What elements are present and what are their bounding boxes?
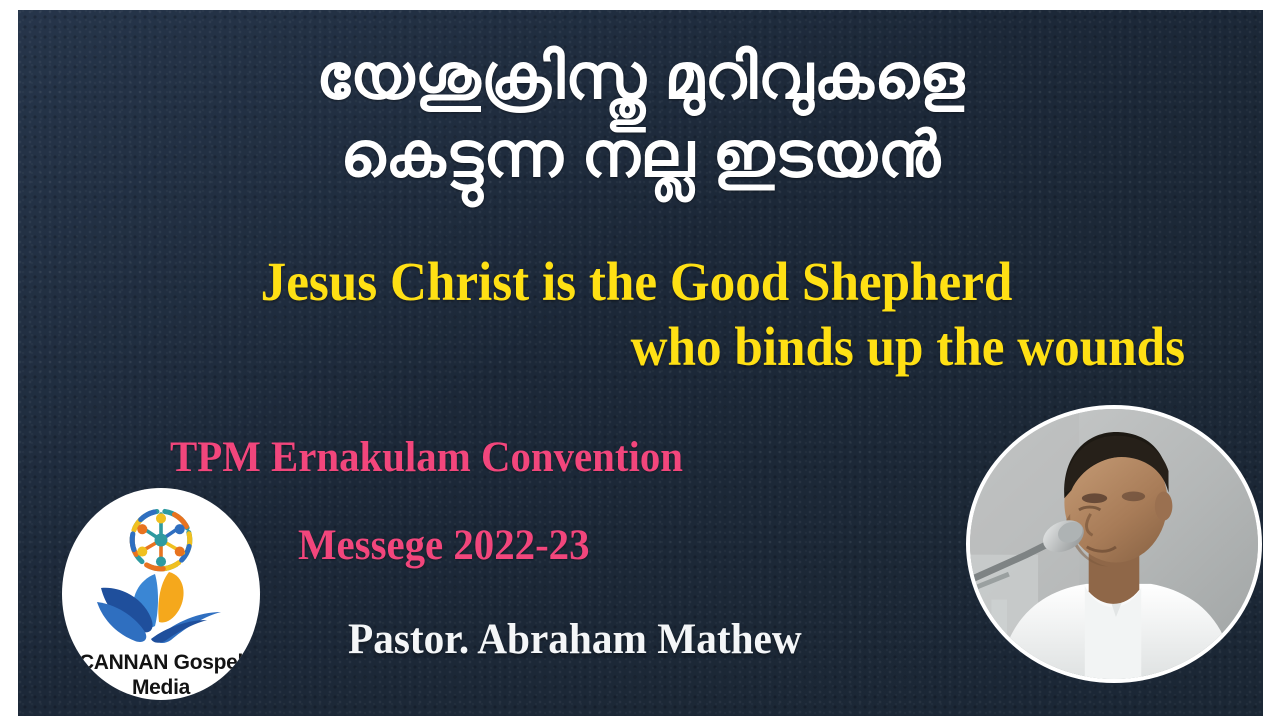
event-message-season: Messege 2022-23: [298, 523, 916, 569]
malayalam-title: യേശുക്രിസ്തു മുറിവുകളെ കെട്ടുന്ന നല്ല ഇട…: [18, 38, 1263, 194]
english-title: Jesus Christ is the Good Shepherd who bi…: [88, 253, 1185, 375]
event-name: TPM Ernakulam Convention: [170, 435, 909, 481]
logo-brand-line-1: CANNAN Gospel: [62, 650, 260, 675]
logo-brand-line-2: Media: [62, 675, 260, 700]
malayalam-title-line-1: യേശുക്രിസ്തു മുറിവുകളെ: [18, 38, 1263, 116]
event-info: TPM Ernakulam Convention Messege 2022-23: [148, 435, 948, 569]
thumbnail-panel: യേശുക്രിസ്തു മുറിവുകളെ കെട്ടുന്ന നല്ല ഇട…: [18, 10, 1263, 716]
video-thumbnail: യേശുക്രിസ്തു മുറിവുകളെ കെട്ടുന്ന നല്ല ഇട…: [0, 0, 1280, 720]
logo-wheel-icon: [125, 504, 197, 576]
english-title-line-2: who binds up the wounds: [165, 318, 1185, 375]
logo-brand-text: CANNAN Gospel Media: [62, 650, 260, 700]
cannan-gospel-media-logo: CANNAN Gospel Media: [62, 488, 260, 700]
speaker-photo: [966, 405, 1262, 683]
speaker-portrait-image: [970, 409, 1258, 679]
malayalam-title-line-2: കെട്ടുന്ന നല്ല ഇടയൻ: [18, 116, 1263, 194]
speaker-name: Pastor. Abraham Mathew: [348, 616, 802, 664]
english-title-line-1: Jesus Christ is the Good Shepherd: [126, 253, 1146, 310]
logo-leaves-icon: [95, 570, 227, 644]
